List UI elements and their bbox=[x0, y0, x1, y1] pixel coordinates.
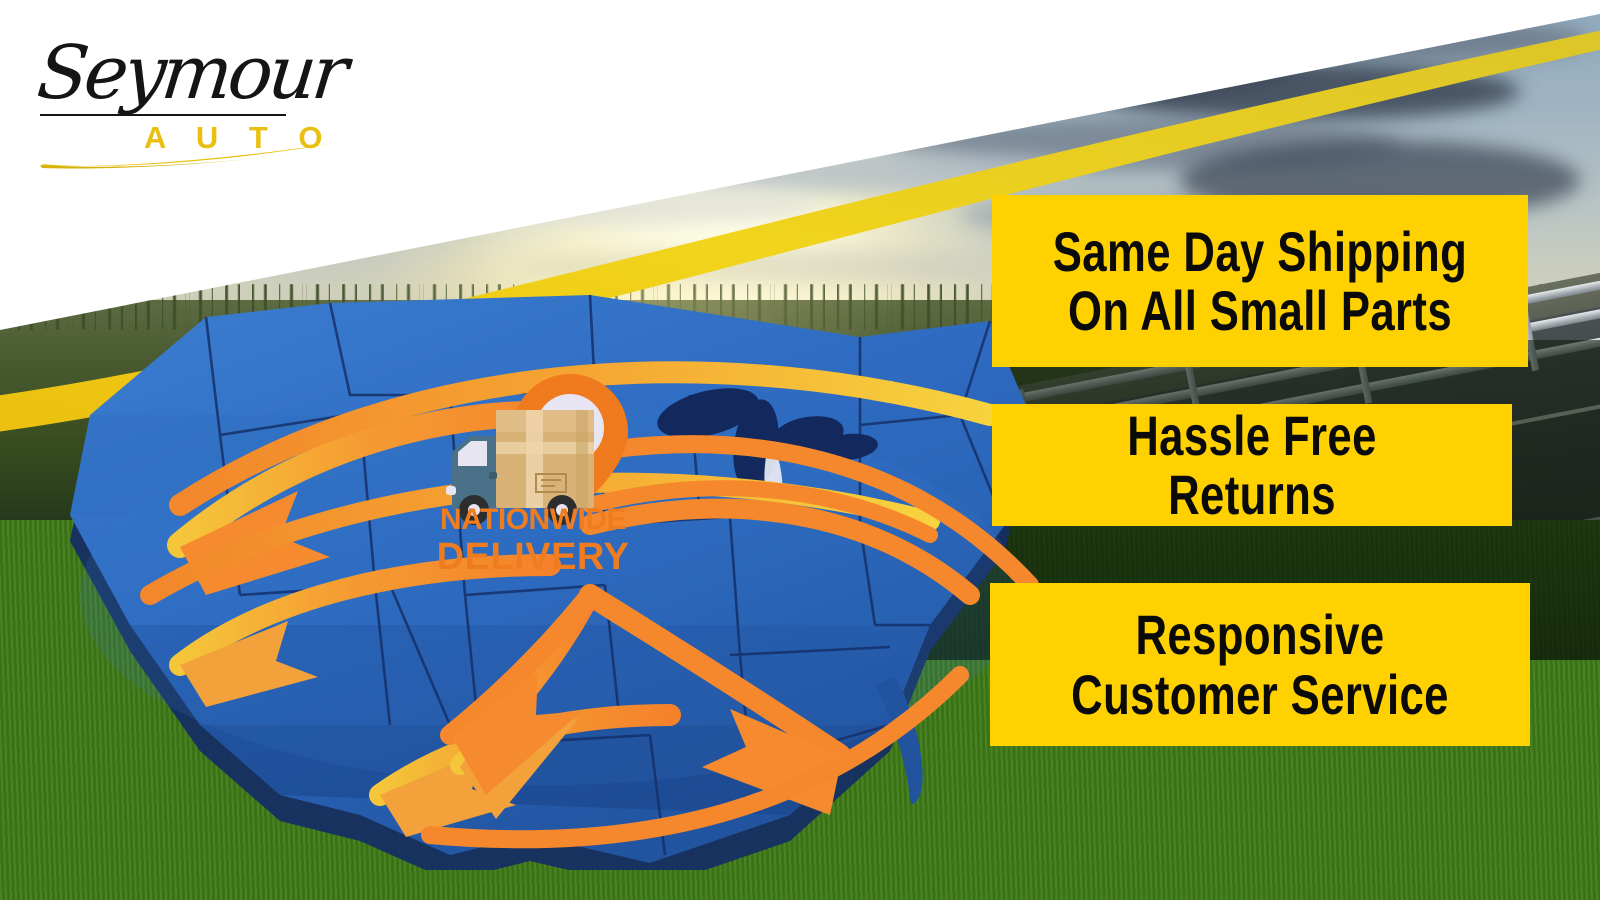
logo-wordmark: Seymour bbox=[33, 30, 348, 116]
promo-banner-canvas: NATIONWIDE DELIVERY Seymour A U T O Same… bbox=[0, 0, 1600, 900]
feature-banner-hassle-free-returns[interactable]: Hassle Free Returns bbox=[992, 404, 1512, 526]
badge-line-2: DELIVERY bbox=[418, 538, 648, 576]
banner-text: Hassle Free Returns bbox=[1049, 406, 1455, 525]
seymour-auto-logo[interactable]: Seymour A U T O bbox=[34, 24, 334, 169]
banner-text: Responsive Customer Service bbox=[1049, 605, 1470, 724]
logo-yellow-swash-icon bbox=[34, 136, 334, 170]
badge-line-1: NATIONWIDE bbox=[418, 505, 648, 535]
feature-banner-responsive-customer-service[interactable]: Responsive Customer Service bbox=[990, 583, 1530, 746]
nationwide-delivery-label: NATIONWIDE DELIVERY bbox=[418, 505, 648, 576]
logo-underline bbox=[40, 114, 286, 116]
banner-text: Same Day Shipping On All Small Parts bbox=[1051, 222, 1469, 341]
feature-banner-same-day-shipping[interactable]: Same Day Shipping On All Small Parts bbox=[992, 195, 1528, 367]
